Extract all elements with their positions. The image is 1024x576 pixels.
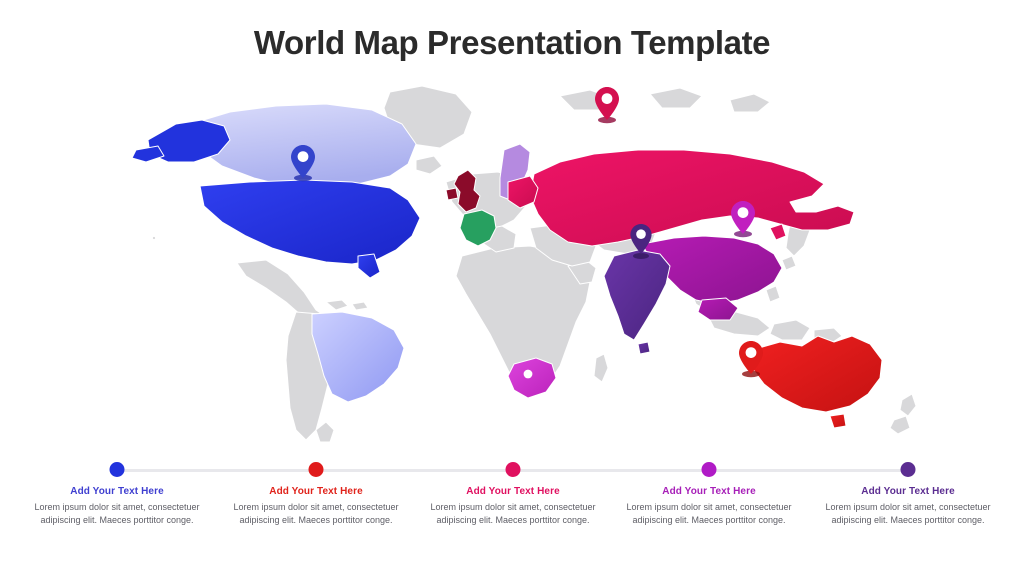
world-map (90, 78, 950, 448)
legend-body-5: Lorem ipsum dolor sit amet, consectetuer… (810, 501, 1006, 527)
legend-heading-2: Add Your Text Here (218, 486, 414, 498)
legend-item-5[interactable]: Add Your Text Here Lorem ipsum dolor sit… (810, 486, 1006, 527)
country-south-africa (508, 358, 556, 398)
legend-heading-3: Add Your Text Here (415, 486, 611, 498)
legend-dot-3[interactable] (506, 462, 521, 477)
legend-body-3: Lorem ipsum dolor sit amet, consectetuer… (415, 501, 611, 527)
legend-item-2[interactable]: Add Your Text Here Lorem ipsum dolor sit… (218, 486, 414, 527)
country-australia (752, 336, 882, 412)
legend-body-4: Lorem ipsum dolor sit amet, consectetuer… (611, 501, 807, 527)
legend-dot-2[interactable] (309, 462, 324, 477)
country-alaska-tail (132, 146, 164, 162)
country-ireland (446, 188, 458, 200)
legend-item-3[interactable]: Add Your Text Here Lorem ipsum dolor sit… (415, 486, 611, 527)
slide-root: World Map Presentation Template (0, 0, 1024, 576)
country-tasmania (830, 414, 846, 428)
legend-item-1[interactable]: Add Your Text Here Lorem ipsum dolor sit… (19, 486, 215, 527)
country-sri-lanka (638, 342, 650, 354)
legend-item-4[interactable]: Add Your Text Here Lorem ipsum dolor sit… (611, 486, 807, 527)
legend-body-2: Lorem ipsum dolor sit amet, consectetuer… (218, 501, 414, 527)
legend-dot-1[interactable] (110, 462, 125, 477)
world-map-svg (90, 78, 950, 448)
country-north-korea (770, 224, 786, 240)
legend-dot-4[interactable] (702, 462, 717, 477)
legend-body-1: Lorem ipsum dolor sit amet, consectetuer… (19, 501, 215, 527)
legend-heading-1: Add Your Text Here (19, 486, 215, 498)
country-united-states (200, 180, 420, 264)
legend-heading-4: Add Your Text Here (611, 486, 807, 498)
legend-dot-5[interactable] (901, 462, 916, 477)
country-india (604, 250, 670, 340)
legend-heading-5: Add Your Text Here (810, 486, 1006, 498)
page-title: World Map Presentation Template (0, 24, 1024, 62)
